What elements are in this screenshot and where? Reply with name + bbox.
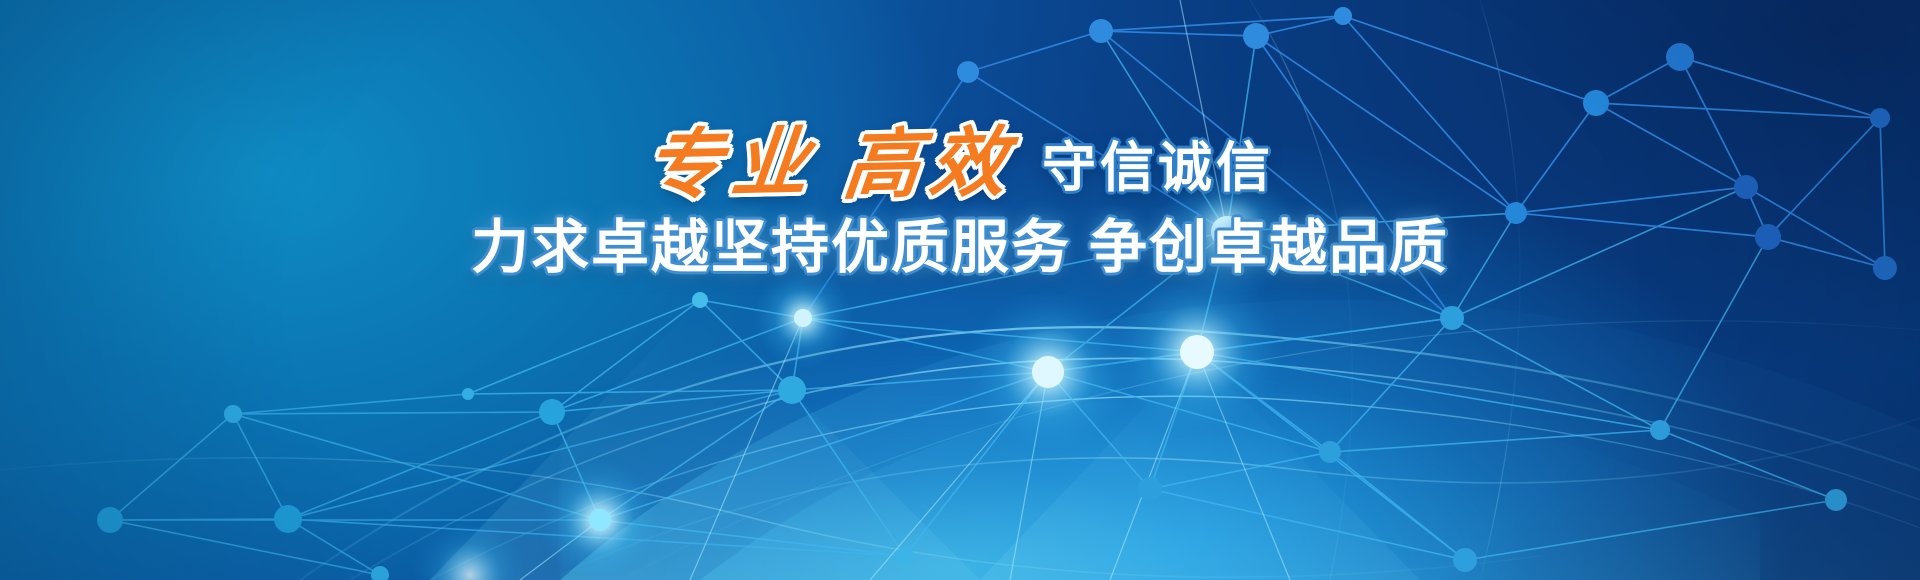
- promo-banner: 专业 高效 守信诚信 力求卓越坚持优质服务 争创卓越品质: [0, 0, 1920, 580]
- vignette-overlay: [0, 0, 1920, 580]
